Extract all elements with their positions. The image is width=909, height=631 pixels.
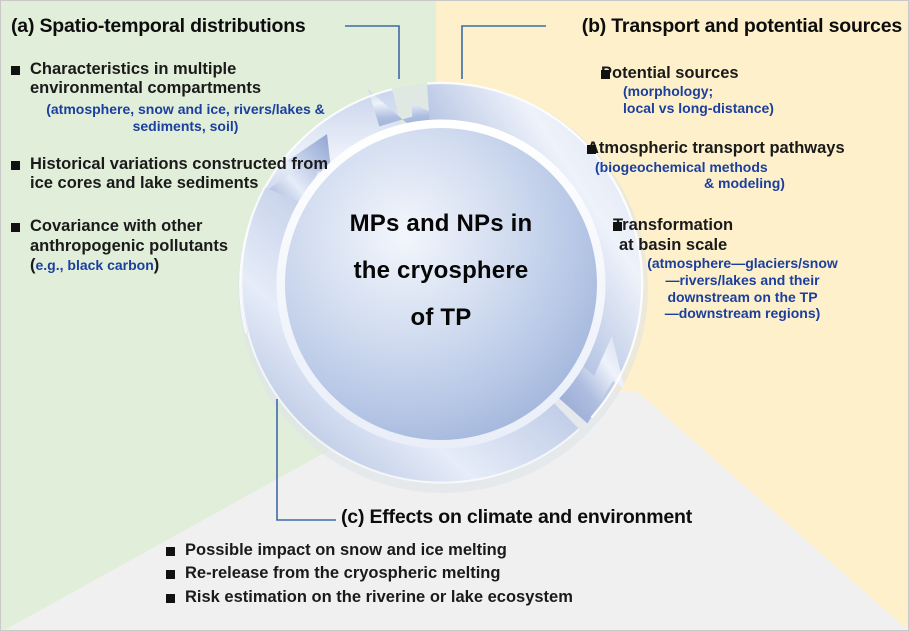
bullet-transformation-text-2: at basin scale xyxy=(613,236,902,255)
bullet-characteristics-sub: (atmosphere, snow and ice, rivers/lakes … xyxy=(11,101,341,135)
bullet-atmospheric-transport-sub-2: & modeling) xyxy=(587,175,902,192)
square-bullet-icon xyxy=(11,223,20,232)
diagram-canvas: MPs and NPs in the cryosphere of TP (a) … xyxy=(0,0,909,631)
bullet-re-release: Re-release from the cryospheric melting xyxy=(166,564,866,583)
leader-line-b xyxy=(462,26,546,79)
bullet-transformation: Transformation at basin scale (atmospher… xyxy=(591,216,902,322)
panel-transport: (b) Transport and potential sources Pote… xyxy=(557,15,902,325)
bullet-atmospheric-transport-text: Atmospheric transport pathways xyxy=(587,139,902,158)
bullet-transformation-sub-2: —rivers/lakes and their xyxy=(583,272,902,289)
center-line-2: the cryosphere xyxy=(301,248,581,295)
bullet-atmospheric-transport: Atmospheric transport pathways (biogeoch… xyxy=(565,139,902,192)
bullet-risk-estimation: Risk estimation on the riverine or lake … xyxy=(166,588,866,607)
center-line-3: of TP xyxy=(301,295,581,342)
bullet-potential-sources-text: Potential sources xyxy=(601,64,902,83)
bullet-covariance-main: Covariance with other anthropogenic poll… xyxy=(30,217,228,254)
square-bullet-icon xyxy=(166,594,175,603)
panel-effects: (c) Effects on climate and environment P… xyxy=(166,506,866,611)
square-bullet-icon xyxy=(11,161,20,170)
bullet-re-release-text: Re-release from the cryospheric melting xyxy=(166,564,866,583)
bullet-covariance: Covariance with other anthropogenic poll… xyxy=(11,217,341,275)
square-bullet-icon xyxy=(587,145,596,154)
square-bullet-icon xyxy=(613,222,622,231)
center-line-1: MPs and NPs in xyxy=(301,201,581,248)
bullet-transformation-sub-3: downstream on the TP xyxy=(583,289,902,306)
bullet-snow-ice-melting: Possible impact on snow and ice melting xyxy=(166,541,866,560)
bullet-characteristics-text: Characteristics in multiple environmenta… xyxy=(11,60,341,99)
bullet-covariance-text: Covariance with other anthropogenic poll… xyxy=(11,217,255,275)
panel-a-heading: (a) Spatio-temporal distributions xyxy=(11,15,341,38)
bullet-historical-variations-text: Historical variations constructed from i… xyxy=(11,155,341,194)
bullet-potential-sources: Potential sources (morphology; local vs … xyxy=(579,64,902,117)
bullet-atmospheric-transport-sub-1: (biogeochemical methods xyxy=(587,159,902,176)
bullet-transformation-sub-1: (atmosphere—glaciers/snow xyxy=(583,255,902,272)
square-bullet-icon xyxy=(166,570,175,579)
leader-line-a xyxy=(345,26,399,79)
panel-c-heading: (c) Effects on climate and environment xyxy=(341,506,866,529)
square-bullet-icon xyxy=(11,66,20,75)
bullet-potential-sources-sub-1: (morphology; xyxy=(601,83,902,100)
bullet-snow-ice-melting-text: Possible impact on snow and ice melting xyxy=(166,541,866,560)
bullet-transformation-sub-4: —downstream regions) xyxy=(583,305,902,322)
bullet-characteristics: Characteristics in multiple environmenta… xyxy=(11,60,341,135)
square-bullet-icon xyxy=(601,70,610,79)
bullet-historical-variations: Historical variations constructed from i… xyxy=(11,155,341,194)
panel-spatiotemporal: (a) Spatio-temporal distributions Charac… xyxy=(11,15,341,279)
leader-line-c xyxy=(277,399,336,520)
bullet-covariance-sub: e.g., black carbon xyxy=(36,257,154,273)
panel-b-heading: (b) Transport and potential sources xyxy=(557,15,902,38)
bullet-covariance-paren-close: ) xyxy=(154,256,160,274)
bullet-transformation-text-1: Transformation xyxy=(613,216,902,235)
central-circle-label: MPs and NPs in the cryosphere of TP xyxy=(301,201,581,341)
bullet-potential-sources-sub-2: local vs long-distance) xyxy=(601,100,902,117)
square-bullet-icon xyxy=(166,547,175,556)
bullet-risk-estimation-text: Risk estimation on the riverine or lake … xyxy=(166,588,866,607)
